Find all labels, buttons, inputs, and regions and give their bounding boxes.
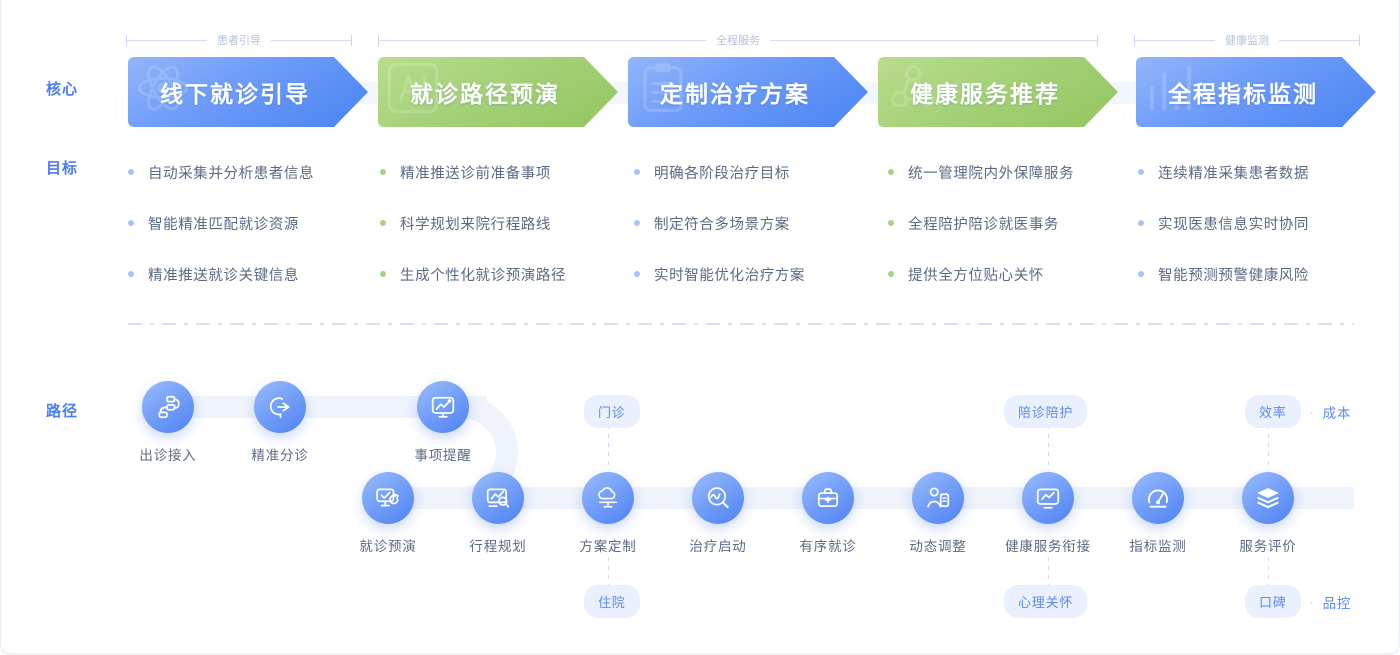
path-node-xingcheng-guihua[interactable]: 行程规划 bbox=[438, 472, 558, 555]
node-label: 指标监测 bbox=[1098, 535, 1218, 555]
bracket-cap-right bbox=[1097, 35, 1098, 46]
goal-item: 制定符合多场景方案 bbox=[634, 206, 805, 240]
goal-item: 智能精准匹配就诊资源 bbox=[128, 206, 314, 240]
tag-efficiency-cost[interactable]: 效率 · 成本 bbox=[1245, 395, 1351, 428]
bracket-full-service: 全程服务 bbox=[378, 32, 1098, 48]
core-stage-label: 就诊路径预演 bbox=[378, 75, 618, 109]
goal-text: 精准推送就诊关键信息 bbox=[148, 264, 299, 285]
node-circle bbox=[802, 472, 854, 524]
path-node-fangan-dingzhi[interactable]: 方案定制 bbox=[548, 472, 668, 555]
head-triage-icon bbox=[267, 394, 293, 420]
goal-column-4: 统一管理院内外保障服务 全程陪护陪诊就医事务 提供全方位贴心关怀 bbox=[888, 155, 1074, 308]
bullet-dot-icon bbox=[380, 271, 386, 277]
goal-text: 科学规划来院行程路线 bbox=[400, 213, 551, 234]
goal-text: 实时智能优化治疗方案 bbox=[654, 264, 805, 285]
node-label: 就诊预演 bbox=[328, 535, 448, 555]
section-divider bbox=[128, 323, 1354, 325]
goal-text: 明确各阶段治疗目标 bbox=[654, 162, 790, 183]
tag-pill-label: 口碑 bbox=[1245, 585, 1301, 618]
tag-connector-line bbox=[1268, 425, 1269, 471]
node-circle bbox=[692, 472, 744, 524]
bracket-label: 健康监测 bbox=[1215, 32, 1279, 48]
goal-text: 实现医患信息实时协同 bbox=[1158, 213, 1309, 234]
node-circle bbox=[1132, 472, 1184, 524]
tag-connector-line bbox=[1048, 557, 1049, 587]
node-circle bbox=[912, 472, 964, 524]
wave-search-icon bbox=[705, 485, 731, 511]
cloud-plan-icon bbox=[595, 485, 621, 511]
tag-outpatient[interactable]: 门诊 bbox=[584, 395, 640, 428]
tag-inpatient[interactable]: 住院 bbox=[584, 585, 640, 618]
goal-item: 实现医患信息实时协同 bbox=[1138, 206, 1309, 240]
monitor-chart-icon bbox=[430, 394, 456, 420]
goal-column-1: 自动采集并分析患者信息 智能精准匹配就诊资源 精准推送就诊关键信息 bbox=[128, 155, 314, 308]
path-node-jingzhun-fenzhen[interactable]: 精准分诊 bbox=[220, 381, 340, 464]
monitor-check-icon bbox=[375, 485, 401, 511]
monitor-search-icon bbox=[485, 485, 511, 511]
tag-connector-line bbox=[1048, 425, 1049, 471]
path-node-chuzhen-jieru[interactable]: 出诊接入 bbox=[108, 381, 228, 464]
goal-item: 精准推送就诊关键信息 bbox=[128, 257, 314, 291]
path-node-zhiliao-qidong[interactable]: 治疗启动 bbox=[658, 472, 778, 555]
node-circle bbox=[1242, 472, 1294, 524]
bracket-health-monitoring: 健康监测 bbox=[1134, 32, 1360, 48]
goal-item: 全程陪护陪诊就医事务 bbox=[888, 206, 1074, 240]
goal-text: 生成个性化就诊预演路径 bbox=[400, 264, 566, 285]
bracket-line-right bbox=[770, 40, 1097, 41]
row-label-goal: 目标 bbox=[46, 157, 78, 178]
gauge-icon bbox=[1145, 485, 1171, 511]
node-label: 健康服务衔接 bbox=[988, 535, 1108, 555]
core-stage-label: 线下就诊引导 bbox=[128, 75, 368, 109]
node-label: 行程规划 bbox=[438, 535, 558, 555]
tag-reputation-quality[interactable]: 口碑 · 品控 bbox=[1245, 585, 1351, 618]
bullet-dot-icon bbox=[128, 271, 134, 277]
medical-case-icon bbox=[815, 485, 841, 511]
path-node-youxu-jiuzhen[interactable]: 有序就诊 bbox=[768, 472, 888, 555]
tag-separator-dot-icon: · bbox=[1301, 595, 1323, 609]
tag-pill-label: 效率 bbox=[1245, 395, 1301, 428]
bracket-line-right bbox=[271, 40, 351, 41]
goal-text: 智能预测预警健康风险 bbox=[1158, 264, 1309, 285]
node-circle bbox=[472, 472, 524, 524]
goal-text: 提供全方位贴心关怀 bbox=[908, 264, 1044, 285]
bracket-label: 全程服务 bbox=[706, 32, 770, 48]
core-stage-3[interactable]: 定制治疗方案 bbox=[628, 57, 868, 127]
node-circle bbox=[582, 472, 634, 524]
core-stage-1[interactable]: 线下就诊引导 bbox=[128, 57, 368, 127]
tag-pill-label: 心理关怀 bbox=[1004, 585, 1087, 618]
goal-item: 智能预测预警健康风险 bbox=[1138, 257, 1309, 291]
tag-plain-label: 成本 bbox=[1323, 402, 1352, 422]
node-circle bbox=[254, 381, 306, 433]
tag-connector-line bbox=[1268, 557, 1269, 587]
path-node-jiuzhen-yuyan[interactable]: 就诊预演 bbox=[328, 472, 448, 555]
bullet-dot-icon bbox=[380, 169, 386, 175]
tag-escort-care[interactable]: 陪诊陪护 bbox=[1004, 395, 1087, 428]
goal-item: 科学规划来院行程路线 bbox=[380, 206, 566, 240]
goal-item: 自动采集并分析患者信息 bbox=[128, 155, 314, 189]
goal-item: 生成个性化就诊预演路径 bbox=[380, 257, 566, 291]
path-node-shixiang-tixing[interactable]: 事项提醒 bbox=[383, 381, 503, 464]
goal-column-5: 连续精准采集患者数据 实现医患信息实时协同 智能预测预警健康风险 bbox=[1138, 155, 1309, 308]
path-node-fuwu-pingjia[interactable]: 服务评价 bbox=[1208, 472, 1328, 555]
flow-nodes-icon bbox=[155, 394, 181, 420]
bracket-line-left bbox=[1135, 40, 1215, 41]
bracket-label: 患者引导 bbox=[207, 32, 271, 48]
infographic-canvas: 核心 目标 路径 患者引导 全程服务 健康监测 线下就诊引导 bbox=[0, 0, 1400, 655]
node-label: 有序就诊 bbox=[768, 535, 888, 555]
node-label: 动态调整 bbox=[878, 535, 998, 555]
tag-plain-label: 品控 bbox=[1323, 592, 1352, 612]
tag-pill-label: 住院 bbox=[584, 585, 640, 618]
node-label: 方案定制 bbox=[548, 535, 668, 555]
goal-text: 全程陪护陪诊就医事务 bbox=[908, 213, 1059, 234]
goal-text: 精准推送诊前准备事项 bbox=[400, 162, 551, 183]
tag-connector-line bbox=[608, 557, 609, 587]
core-stage-label: 定制治疗方案 bbox=[628, 75, 868, 109]
bracket-line-left bbox=[379, 40, 706, 41]
layers-icon bbox=[1255, 485, 1281, 511]
node-circle bbox=[362, 472, 414, 524]
core-stage-label: 健康服务推荐 bbox=[878, 75, 1118, 109]
bullet-dot-icon bbox=[634, 169, 640, 175]
monitor-trend-icon bbox=[1035, 485, 1061, 511]
tag-separator-dot-icon: · bbox=[1301, 405, 1323, 419]
goal-text: 统一管理院内外保障服务 bbox=[908, 162, 1074, 183]
node-circle bbox=[417, 381, 469, 433]
bullet-dot-icon bbox=[888, 220, 894, 226]
bullet-dot-icon bbox=[634, 271, 640, 277]
bracket-line-left bbox=[127, 40, 207, 41]
bullet-dot-icon bbox=[1138, 169, 1144, 175]
core-stage-label: 全程指标监测 bbox=[1136, 75, 1376, 109]
bullet-dot-icon bbox=[128, 169, 134, 175]
bracket-cap-right bbox=[1359, 35, 1360, 46]
goal-item: 精准推送诊前准备事项 bbox=[380, 155, 566, 189]
row-label-core: 核心 bbox=[46, 78, 78, 99]
tag-connector-line bbox=[608, 425, 609, 471]
person-card-icon bbox=[925, 485, 951, 511]
bullet-dot-icon bbox=[1138, 220, 1144, 226]
tag-pill-label: 陪诊陪护 bbox=[1004, 395, 1087, 428]
core-stage-4[interactable]: 健康服务推荐 bbox=[878, 57, 1118, 127]
goal-item: 连续精准采集患者数据 bbox=[1138, 155, 1309, 189]
bullet-dot-icon bbox=[128, 220, 134, 226]
goal-item: 明确各阶段治疗目标 bbox=[634, 155, 805, 189]
goal-text: 自动采集并分析患者信息 bbox=[148, 162, 314, 183]
goal-column-3: 明确各阶段治疗目标 制定符合多场景方案 实时智能优化治疗方案 bbox=[634, 155, 805, 308]
tag-psychological-care[interactable]: 心理关怀 bbox=[1004, 585, 1087, 618]
bracket-line-right bbox=[1279, 40, 1359, 41]
goal-text: 制定符合多场景方案 bbox=[654, 213, 790, 234]
node-label: 出诊接入 bbox=[108, 444, 228, 464]
goal-text: 连续精准采集患者数据 bbox=[1158, 162, 1309, 183]
node-circle bbox=[142, 381, 194, 433]
bullet-dot-icon bbox=[888, 271, 894, 277]
core-stage-5[interactable]: 全程指标监测 bbox=[1136, 57, 1376, 127]
core-stage-2[interactable]: 就诊路径预演 bbox=[378, 57, 618, 127]
bullet-dot-icon bbox=[380, 220, 386, 226]
node-label: 事项提醒 bbox=[383, 444, 503, 464]
path-node-dongtai-tiaozheng[interactable]: 动态调整 bbox=[878, 472, 998, 555]
bullet-dot-icon bbox=[888, 169, 894, 175]
path-node-zhibiao-jiance[interactable]: 指标监测 bbox=[1098, 472, 1218, 555]
node-label: 治疗启动 bbox=[658, 535, 778, 555]
bullet-dot-icon bbox=[634, 220, 640, 226]
node-label: 服务评价 bbox=[1208, 535, 1328, 555]
goal-item: 提供全方位贴心关怀 bbox=[888, 257, 1074, 291]
bracket-patient-guidance: 患者引导 bbox=[126, 32, 352, 48]
goal-column-2: 精准推送诊前准备事项 科学规划来院行程路线 生成个性化就诊预演路径 bbox=[380, 155, 566, 308]
goal-item: 实时智能优化治疗方案 bbox=[634, 257, 805, 291]
bracket-cap-right bbox=[351, 35, 352, 46]
goal-text: 智能精准匹配就诊资源 bbox=[148, 213, 299, 234]
node-circle bbox=[1022, 472, 1074, 524]
bullet-dot-icon bbox=[1138, 271, 1144, 277]
tag-pill-label: 门诊 bbox=[584, 395, 640, 428]
path-node-jiankang-fuwu-xianjie[interactable]: 健康服务衔接 bbox=[988, 472, 1108, 555]
goal-item: 统一管理院内外保障服务 bbox=[888, 155, 1074, 189]
node-label: 精准分诊 bbox=[220, 444, 340, 464]
row-label-path: 路径 bbox=[46, 400, 78, 421]
